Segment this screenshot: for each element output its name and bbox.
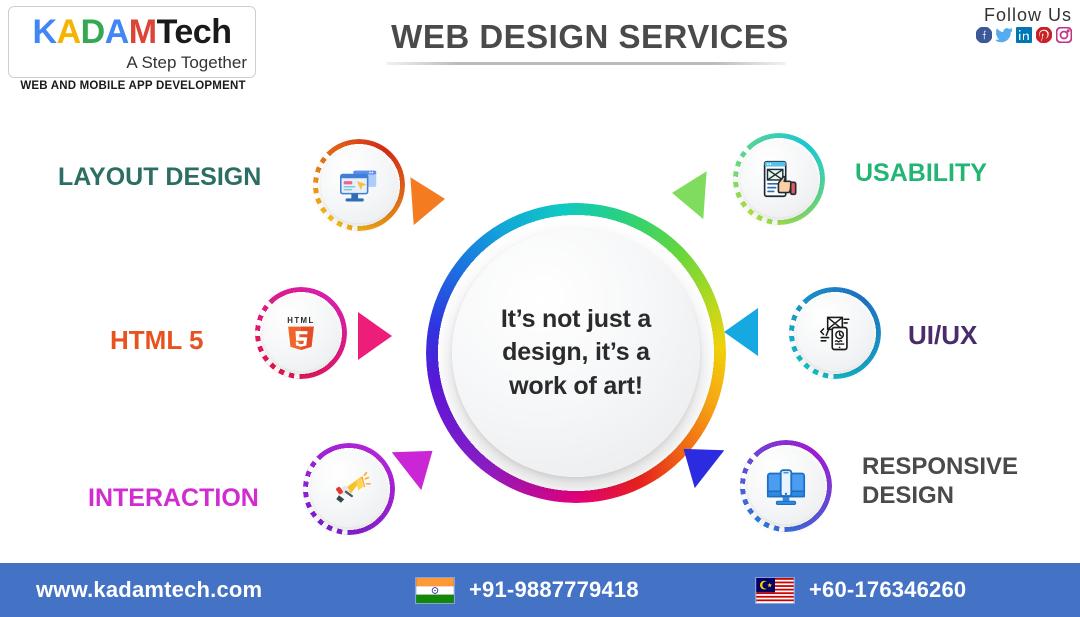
india-flag-icon bbox=[415, 577, 455, 604]
center-tagline-line: design, it’s a bbox=[502, 336, 650, 370]
logo-tagline: A Step Together bbox=[9, 53, 247, 73]
footer-website[interactable]: www.kadamtech.com bbox=[36, 577, 262, 603]
center-tagline-line: It’s not just a bbox=[501, 303, 651, 337]
monitor-layout-icon bbox=[336, 162, 382, 208]
footer-bar: www.kadamtech.com +91-9887779418 bbox=[0, 563, 1080, 617]
follow-us-block: Follow Us bbox=[976, 4, 1072, 43]
service-node-interaction[interactable] bbox=[303, 443, 395, 535]
contact-india: +91-9887779418 bbox=[415, 577, 639, 604]
follow-us-label: Follow Us bbox=[976, 4, 1072, 26]
monitor-mobile-icon bbox=[763, 463, 809, 509]
logo-letter: K bbox=[33, 13, 57, 51]
service-node-ui-ux[interactable] bbox=[789, 287, 881, 379]
service-label-usability: USABILITY bbox=[855, 158, 1055, 189]
center-tagline-line: work of art! bbox=[509, 370, 643, 404]
social-icons bbox=[976, 27, 1072, 43]
mobile-wireframe-icon bbox=[813, 311, 857, 355]
node-icon-bubble bbox=[321, 147, 397, 223]
facebook-icon[interactable] bbox=[976, 27, 992, 43]
service-label-layout-design: LAYOUT DESIGN bbox=[58, 162, 308, 193]
node-icon-bubble bbox=[797, 295, 873, 371]
service-label-responsive-design: RESPONSIVE DESIGN bbox=[862, 452, 1072, 511]
service-node-responsive-design[interactable] bbox=[740, 440, 832, 532]
service-node-usability[interactable] bbox=[733, 133, 825, 225]
megaphone-icon bbox=[326, 466, 372, 512]
logo-letter: D bbox=[81, 13, 105, 51]
infographic-canvas: KADAMTech A Step Together WEB AND MOBILE… bbox=[0, 0, 1080, 617]
thumbs-up-wireframe-icon bbox=[756, 156, 802, 202]
html5-shield-icon: HTML bbox=[279, 311, 323, 355]
center-tagline: It’s not just adesign, it’s awork of art… bbox=[452, 229, 700, 477]
instagram-icon[interactable] bbox=[1056, 27, 1072, 43]
node-icon-bubble bbox=[748, 448, 824, 524]
logo-wordmark: KADAMTech bbox=[9, 13, 255, 51]
pinterest-icon[interactable] bbox=[1036, 27, 1052, 43]
node-icon-bubble bbox=[741, 141, 817, 217]
company-logo: KADAMTech A Step Together bbox=[8, 6, 256, 78]
svg-text:HTML: HTML bbox=[287, 316, 314, 325]
logo-subtitle: WEB AND MOBILE APP DEVELOPMENT bbox=[8, 80, 258, 92]
arrow-ui-ux bbox=[724, 308, 758, 356]
linkedin-icon[interactable] bbox=[1016, 27, 1032, 43]
logo-letter: c bbox=[193, 13, 211, 51]
node-icon-bubble bbox=[311, 451, 387, 527]
logo-letter: h bbox=[211, 13, 231, 51]
title-underline bbox=[386, 62, 786, 65]
service-label-ui-ux: UI/UX bbox=[908, 320, 1068, 352]
malaysia-flag-icon bbox=[755, 577, 795, 604]
service-node-layout-design[interactable] bbox=[313, 139, 405, 231]
twitter-icon[interactable] bbox=[996, 27, 1012, 43]
contact-malaysia: +60-176346260 bbox=[755, 577, 966, 604]
logo-letter: A bbox=[105, 13, 129, 51]
logo-letter: M bbox=[129, 13, 157, 51]
page-title: WEB DESIGN SERVICES bbox=[330, 18, 850, 56]
service-label-interaction: INTERACTION bbox=[88, 483, 288, 514]
arrow-interaction bbox=[392, 432, 448, 490]
service-label-html5: HTML 5 bbox=[110, 325, 270, 357]
logo-letter: e bbox=[174, 13, 192, 51]
phone-malaysia[interactable]: +60-176346260 bbox=[809, 577, 966, 603]
logo-letter: A bbox=[57, 13, 81, 51]
arrow-layout-design bbox=[410, 175, 446, 225]
logo-letter: T bbox=[157, 13, 175, 51]
phone-india[interactable]: +91-9887779418 bbox=[469, 577, 639, 603]
node-icon-bubble: HTML bbox=[263, 295, 339, 371]
arrow-html5 bbox=[358, 312, 392, 360]
arrow-usability bbox=[670, 169, 706, 219]
